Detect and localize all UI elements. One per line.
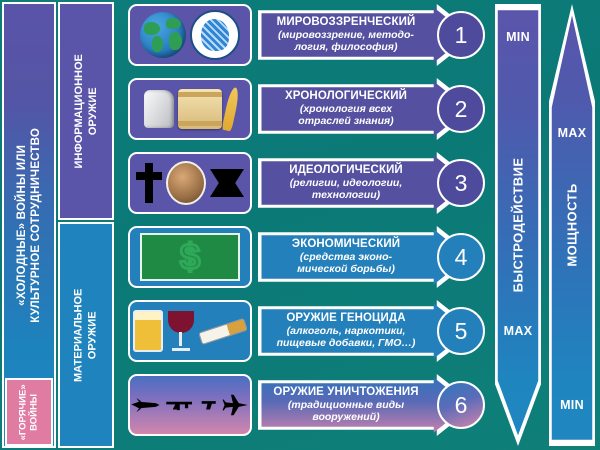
band-1-sub2: логия, философия) [295, 42, 398, 54]
scroll-icon [178, 89, 222, 129]
missile-icon [130, 392, 161, 418]
band-5-sub2: пищевые добавки, ГМО…) [277, 338, 416, 350]
arrow-speed-bottom-label: MAX [495, 324, 541, 338]
cold-wars-line2: КУЛЬТУРНОЕ СОТРУДНИЧЕСТВО [30, 128, 42, 323]
band-3-sub1: (религии, идеологии, [290, 178, 403, 190]
pistol-icon [201, 396, 218, 414]
column-information-weapon: ИНФОРМАЦИОННОЕ ОРУЖИЕ [58, 2, 114, 220]
column-cold-wars-label: «ХОЛОДНЫЕ» ВОЙНЫ ИЛИ КУЛЬТУРНОЕ СОТРУДНИ… [15, 128, 44, 323]
marx-portrait-icon [166, 161, 206, 205]
picture-cell-1 [128, 4, 252, 66]
arrow-speed: MIN БЫСТРОДЕЙСТВИЕ MAX [495, 4, 541, 446]
robot-hand-icon [144, 90, 174, 128]
arrow-speed-name: БЫСТРОДЕЙСТВИЕ [511, 158, 526, 293]
priority-number-1: 1 [437, 11, 485, 59]
band-2-sub1: (хронология всех [300, 104, 392, 116]
hot-wars-line2: ВОЙНЫ [29, 393, 40, 430]
star-of-david-icon [210, 166, 244, 200]
band-6-sub2: вооружений) [312, 412, 379, 424]
globe-icon [140, 12, 186, 58]
column-information-weapon-label: ИНФОРМАЦИОННОЕ ОРУЖИЕ [72, 54, 101, 168]
priority-number-1-value: 1 [455, 22, 468, 49]
priority-number-6: 6 [437, 381, 485, 429]
priority-number-3-value: 3 [455, 170, 468, 197]
cold-wars-line1: «ХОЛОДНЫЕ» ВОЙНЫ ИЛИ [16, 145, 28, 306]
info-weapon-line2: ОРУЖИЕ [87, 87, 99, 135]
priority-number-3: 3 [437, 159, 485, 207]
priority-number-5: 5 [437, 307, 485, 355]
priority-number-4: 4 [437, 233, 485, 281]
arrow-power-name: МОЩНОСТЬ [565, 183, 580, 266]
arrow-power: MAX МОЩНОСТЬ MIN [549, 4, 595, 446]
band-3-sub2: технологии) [312, 190, 380, 202]
priority-number-6-value: 6 [455, 392, 468, 419]
band-5-title: ОРУЖИЕ ГЕНОЦИДА [286, 312, 405, 325]
priority-number-4-value: 4 [455, 244, 468, 271]
beer-mug-icon [133, 310, 163, 352]
arrow-power-top-label: MAX [549, 126, 595, 140]
band-1-title: МИРОВОЗЗРЕНЧЕСКИЙ [277, 16, 416, 29]
picture-cell-2 [128, 78, 252, 140]
band-4-sub1: (средства эконо- [300, 252, 392, 264]
cross-icon [136, 163, 162, 203]
dollar-bill-icon: $ [140, 233, 240, 281]
picture-cell-3 [128, 152, 252, 214]
quill-icon [222, 86, 241, 131]
head-network-icon [190, 10, 240, 60]
picture-cell-4: $ [128, 226, 252, 288]
arrow-power-bottom-label: MIN [549, 398, 595, 412]
priority-number-5-value: 5 [455, 318, 468, 345]
cigarette-icon [198, 317, 248, 344]
info-weapon-line1: ИНФОРМАЦИОННОЕ [73, 54, 85, 168]
priority-number-2: 2 [437, 85, 485, 133]
picture-cell-6 [128, 374, 252, 436]
diagram-canvas: «ХОЛОДНЫЕ» ВОЙНЫ ИЛИ КУЛЬТУРНОЕ СОТРУДНИ… [0, 0, 600, 450]
band-4-sub2: мической борьбы) [297, 264, 395, 276]
band-1-sub1: (мировоззрение, методо- [278, 30, 414, 42]
fighter-jet-icon [222, 385, 250, 425]
band-5-sub1: (алкоголь, наркотики, [287, 326, 406, 338]
hot-wars-line1: «ГОРЯЧИЕ» [18, 384, 29, 440]
priority-number-2-value: 2 [455, 96, 468, 123]
arrow-speed-top-label: MIN [495, 30, 541, 44]
column-hot-wars-label: «ГОРЯЧИЕ» ВОЙНЫ [18, 384, 41, 440]
band-4-title: ЭКОНОМИЧЕСКИЙ [292, 238, 400, 251]
rifle-icon [165, 394, 197, 416]
column-material-weapon: МАТЕРИАЛЬНОЕ ОРУЖИЕ [58, 222, 114, 448]
mat-weapon-line1: МАТЕРИАЛЬНОЕ [73, 288, 85, 381]
column-material-weapon-label: МАТЕРИАЛЬНОЕ ОРУЖИЕ [72, 288, 101, 381]
band-6-sub1: (традиционные виды [288, 400, 404, 412]
mat-weapon-line2: ОРУЖИЕ [87, 311, 99, 359]
band-2-sub2: отраслей знания) [298, 116, 393, 128]
wine-glass-icon [167, 311, 195, 351]
band-3-title: ИДЕОЛОГИЧЕСКИЙ [289, 164, 403, 177]
picture-cell-5 [128, 300, 252, 362]
column-hot-wars: «ГОРЯЧИЕ» ВОЙНЫ [5, 378, 53, 446]
band-6-title: ОРУЖИЕ УНИЧТОЖЕНИЯ [273, 386, 418, 399]
band-2-title: ХРОНОЛОГИЧЕСКИЙ [285, 90, 407, 103]
